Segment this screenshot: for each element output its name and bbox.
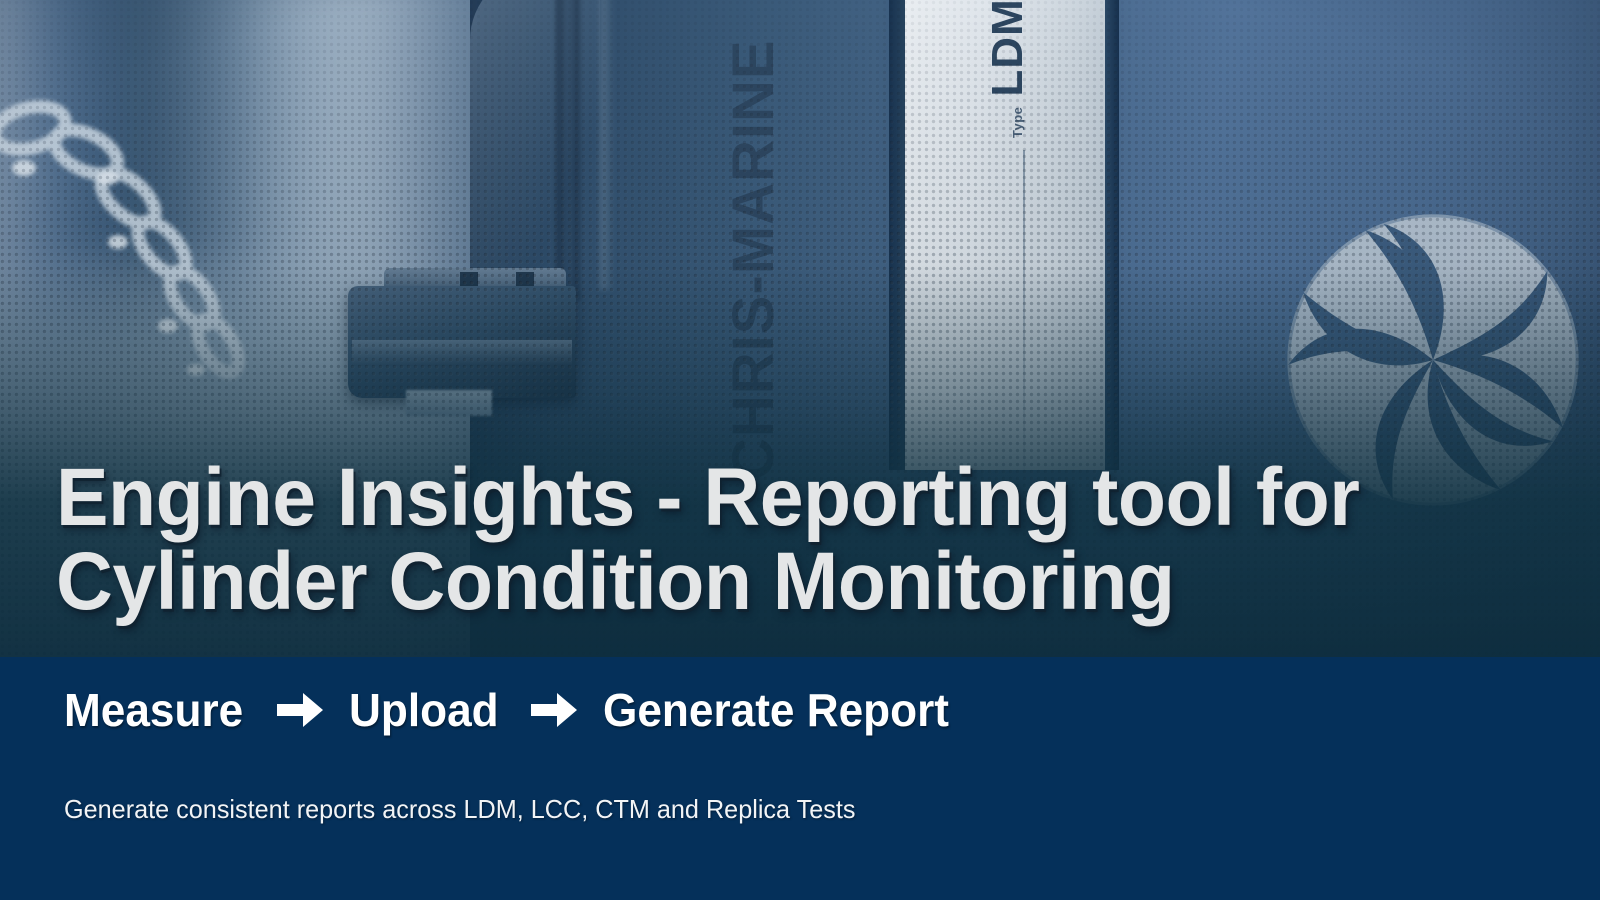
hero-banner: Type LDM CHRIS-MARINE bbox=[0, 0, 1600, 900]
workflow-step-upload: Upload bbox=[349, 684, 499, 736]
workflow-steps: Measure Upload Generate Report bbox=[64, 684, 963, 736]
banner-tagline: Generate consistent reports across LDM, … bbox=[64, 793, 855, 825]
arrow-right-icon bbox=[531, 693, 577, 727]
workflow-banner: Measure Upload Generate Report Generate … bbox=[0, 657, 1600, 900]
workflow-step-generate-report: Generate Report bbox=[603, 684, 949, 736]
page-title: Engine Insights - Reporting tool for Cyl… bbox=[56, 456, 1536, 624]
arrow-right-icon bbox=[277, 693, 323, 727]
page-title-line-1: Engine Insights - Reporting tool for bbox=[56, 456, 1477, 540]
workflow-step-measure: Measure bbox=[64, 684, 243, 736]
page-title-line-2: Cylinder Condition Monitoring bbox=[56, 540, 1477, 624]
